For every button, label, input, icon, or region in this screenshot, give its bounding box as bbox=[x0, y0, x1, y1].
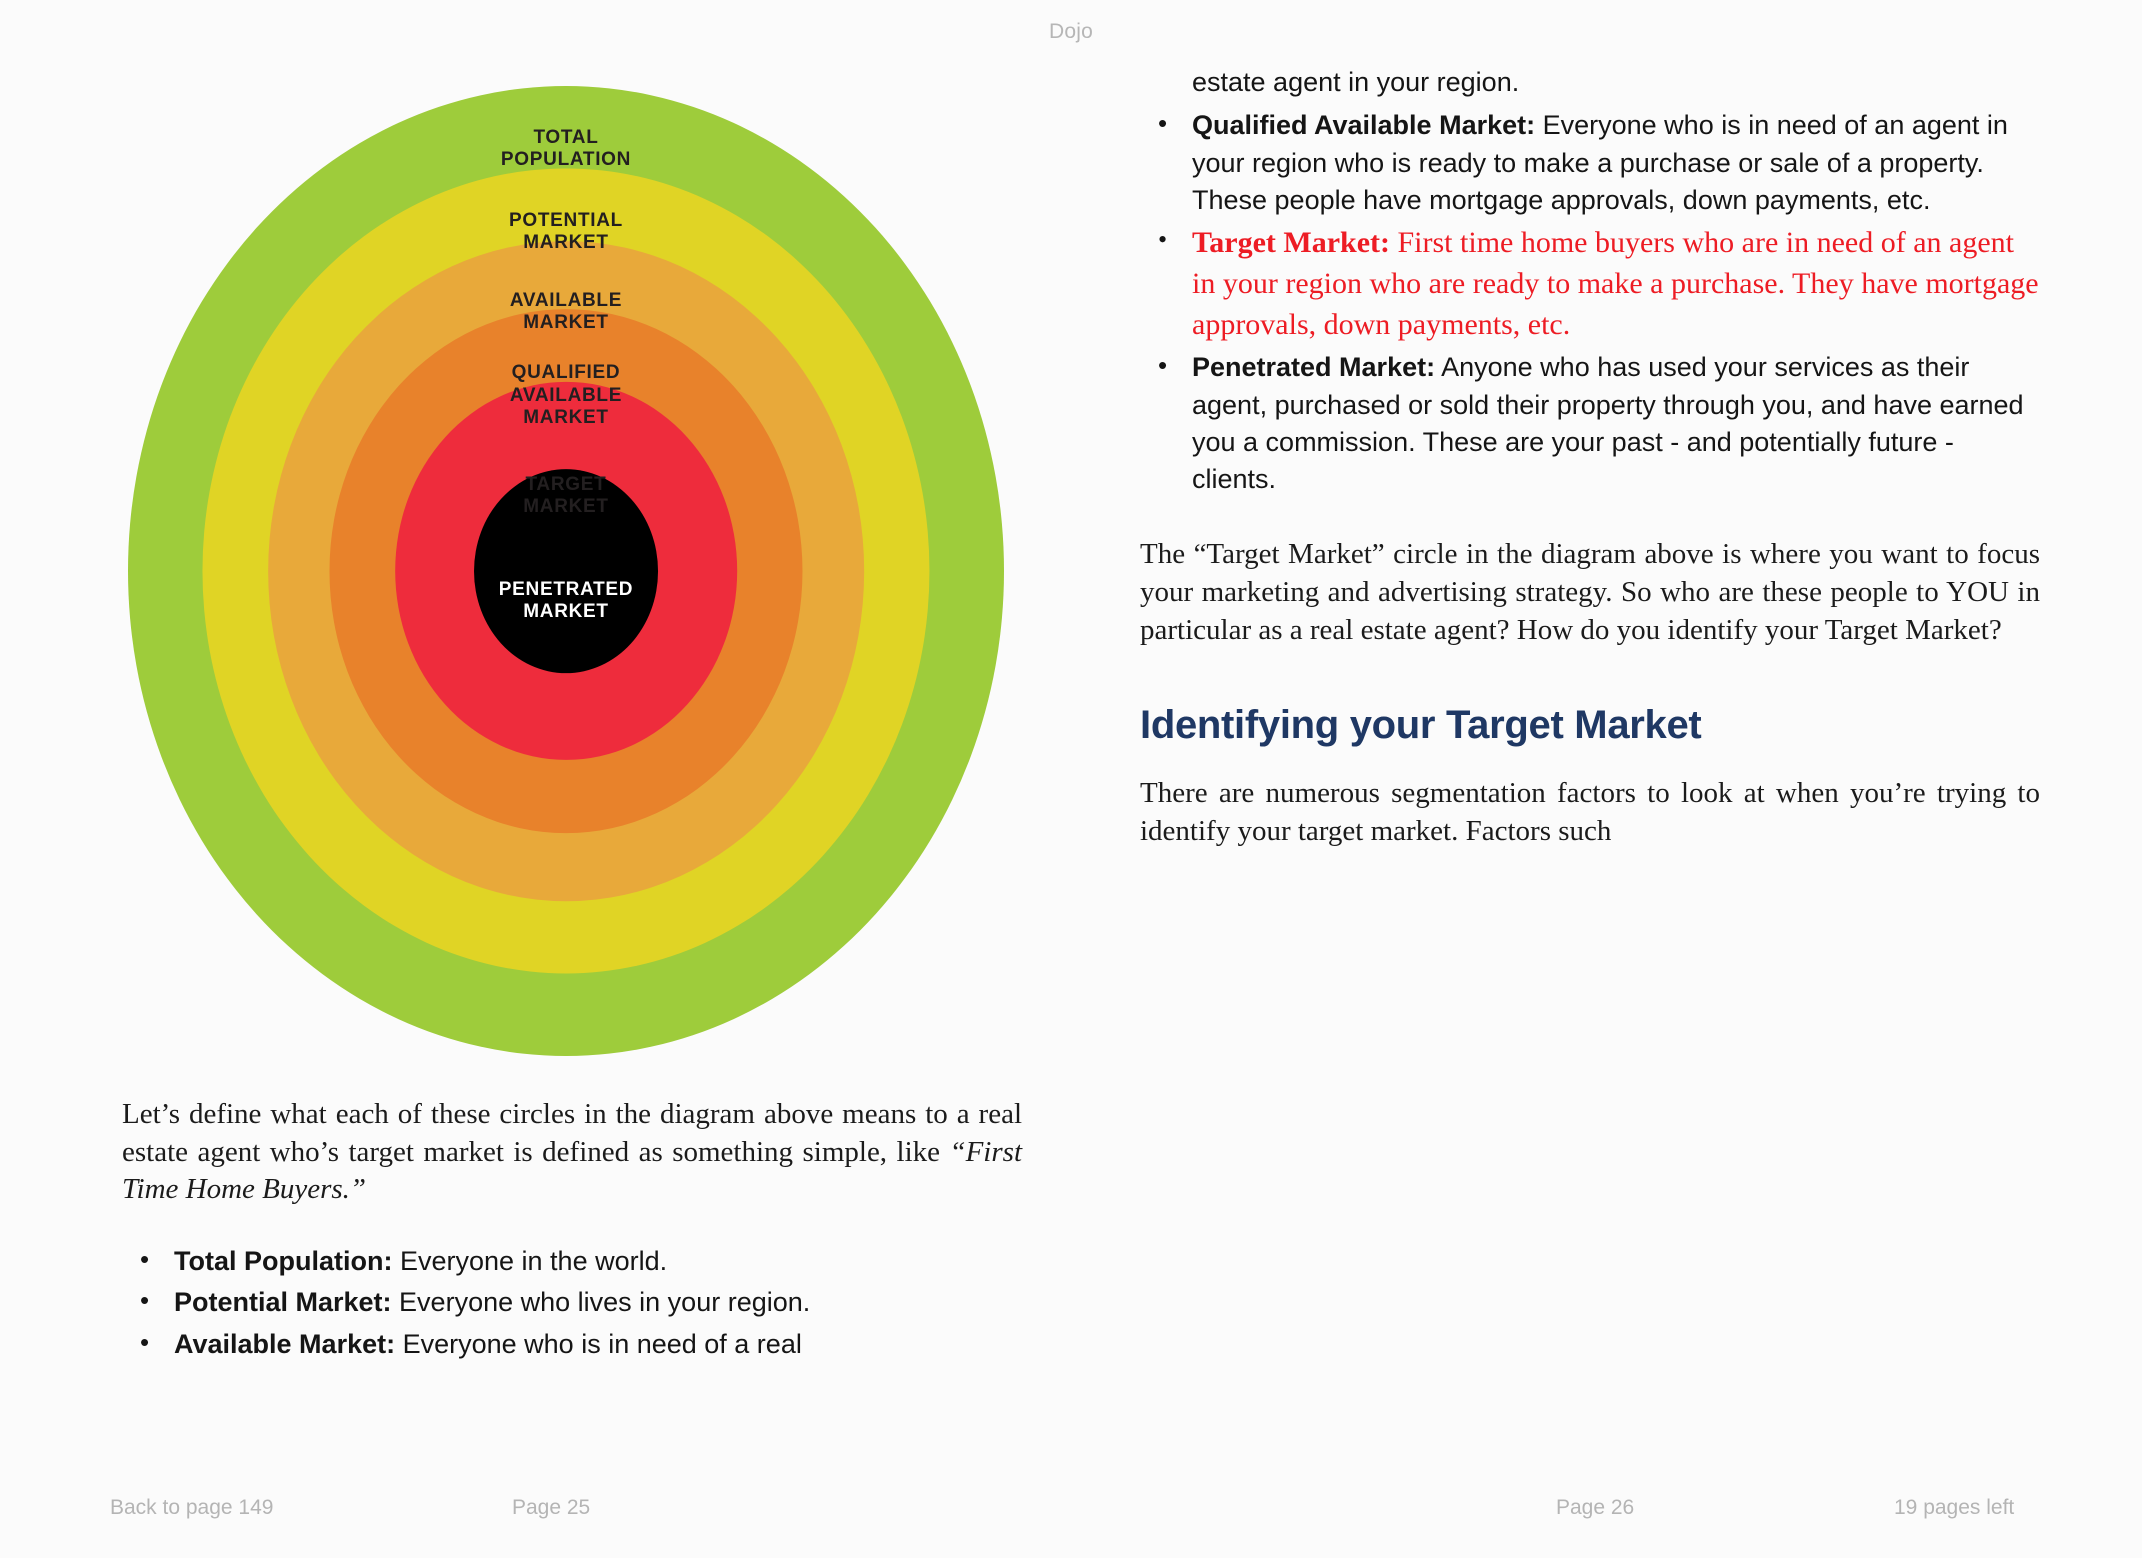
left-definition-list: Total Population: Everyone in the world.… bbox=[122, 1243, 1022, 1363]
right-definition-list: Qualified Available Market: Everyone who… bbox=[1140, 107, 2040, 498]
intro-paragraph-text: Let’s define what each of these circles … bbox=[122, 1098, 1022, 1168]
list-item: Total Population: Everyone in the world. bbox=[122, 1243, 1022, 1280]
continuation-line: estate agent in your region. bbox=[1192, 64, 2040, 101]
ring-5 bbox=[474, 469, 658, 673]
list-item: Qualified Available Market: Everyone who… bbox=[1140, 107, 2040, 219]
pages-remaining: 19 pages left bbox=[1894, 1496, 2014, 1520]
back-to-page-link[interactable]: Back to page 149 bbox=[110, 1496, 273, 1520]
reader-header: Dojo bbox=[0, 0, 2142, 64]
list-item-term: Qualified Available Market: bbox=[1192, 110, 1535, 140]
list-item-description: Everyone who lives in your region. bbox=[392, 1287, 811, 1317]
section-heading-identifying-your-target-market: Identifying your Target Market bbox=[1140, 703, 2040, 747]
list-item-term: Potential Market: bbox=[174, 1287, 392, 1317]
intro-paragraph: Let’s define what each of these circles … bbox=[122, 1096, 1022, 1209]
right-page-column: estate agent in your region. Qualified A… bbox=[1140, 64, 2040, 851]
list-item: Penetrated Market: Anyone who has used y… bbox=[1140, 349, 2040, 498]
list-item: Potential Market: Everyone who lives in … bbox=[122, 1284, 1022, 1321]
target-market-paragraph: The “Target Market” circle in the diagra… bbox=[1140, 536, 2040, 649]
page-body: TOTAL POPULATIONPOTENTIAL MARKETAVAILABL… bbox=[0, 64, 2142, 1470]
reader-footer: Back to page 149 Page 25 Page 26 19 page… bbox=[0, 1470, 2142, 1558]
page-number-left: Page 25 bbox=[512, 1496, 590, 1520]
closing-paragraph: There are numerous segmentation factors … bbox=[1140, 775, 2040, 850]
book-title: Dojo bbox=[1049, 20, 1093, 44]
list-item: Available Market: Everyone who is in nee… bbox=[122, 1326, 1022, 1363]
market-segmentation-diagram: TOTAL POPULATIONPOTENTIAL MARKETAVAILABL… bbox=[122, 86, 1022, 1096]
page-number-right: Page 26 bbox=[1556, 1496, 1634, 1520]
list-item-description: Everyone in the world. bbox=[392, 1246, 667, 1276]
left-page-column: TOTAL POPULATIONPOTENTIAL MARKETAVAILABL… bbox=[122, 64, 1022, 1367]
list-item: Target Market: First time home buyers wh… bbox=[1140, 223, 2040, 345]
list-item-description: Everyone who is in need of a real bbox=[395, 1329, 802, 1359]
list-item-term: Total Population: bbox=[174, 1246, 392, 1276]
list-item-term: Target Market: bbox=[1192, 226, 1390, 259]
concentric-rings: TOTAL POPULATIONPOTENTIAL MARKETAVAILABL… bbox=[128, 86, 1004, 1056]
list-item-term: Available Market: bbox=[174, 1329, 395, 1359]
list-item-term: Penetrated Market: bbox=[1192, 352, 1435, 382]
